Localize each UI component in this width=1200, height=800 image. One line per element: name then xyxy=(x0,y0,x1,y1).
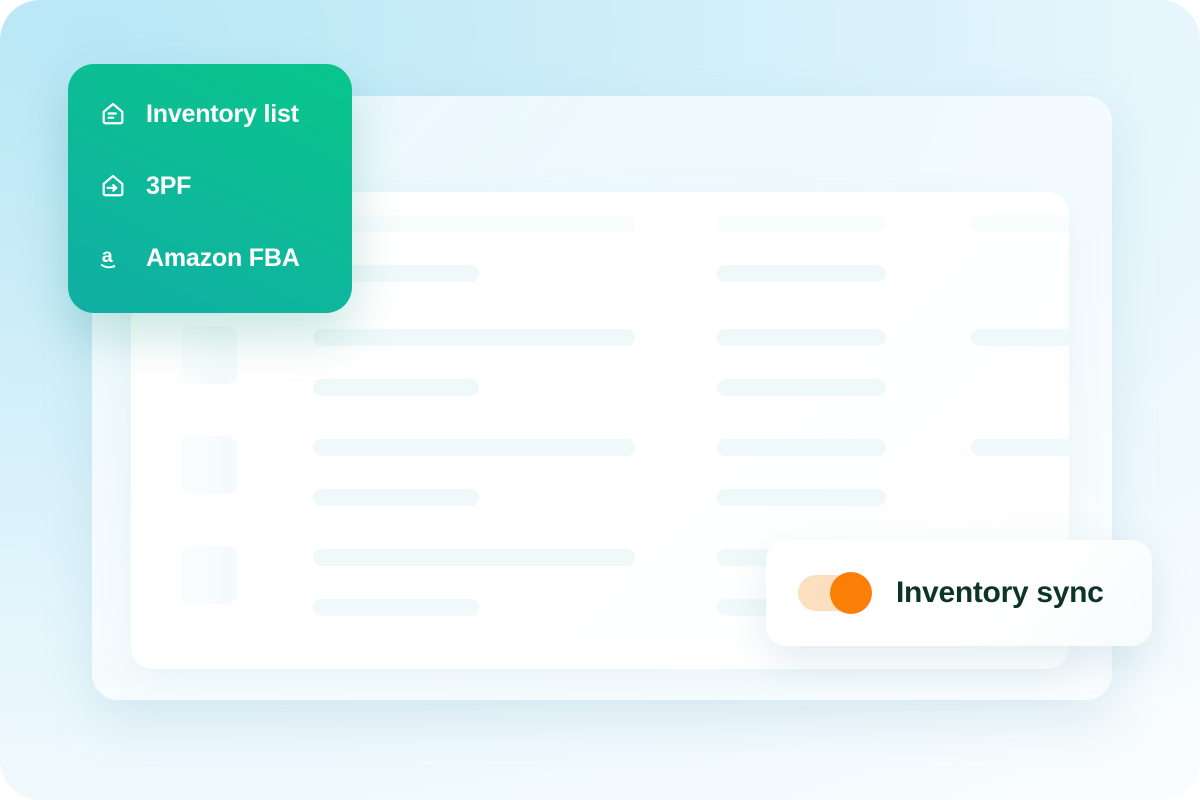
toggle-knob xyxy=(830,572,872,614)
svg-text:a: a xyxy=(102,245,114,267)
row-col2-top-placeholder xyxy=(717,439,886,456)
house-list-icon xyxy=(98,99,128,129)
inventory-sync-toggle[interactable] xyxy=(798,572,872,614)
nav-item-label: Amazon FBA xyxy=(146,244,300,273)
row-col2-top-placeholder xyxy=(717,329,886,346)
row-subtitle-placeholder xyxy=(313,489,479,506)
row-col2-bottom-placeholder xyxy=(717,265,886,282)
row-title-placeholder xyxy=(313,329,635,346)
row-col3-placeholder xyxy=(971,215,1069,232)
table-row xyxy=(131,412,1069,522)
row-thumbnail-placeholder xyxy=(181,436,237,494)
row-thumbnail-placeholder xyxy=(181,326,237,384)
amazon-logo-icon: a xyxy=(98,243,128,273)
table-row xyxy=(131,302,1069,412)
row-subtitle-placeholder xyxy=(313,599,479,616)
nav-item-label: 3PF xyxy=(146,172,191,201)
row-col3-placeholder xyxy=(971,439,1069,456)
nav-item-label: Inventory list xyxy=(146,100,299,129)
promo-illustration: Inventory list 3PF a Amazon FBA xyxy=(0,0,1200,800)
nav-item-inventory-list[interactable]: Inventory list xyxy=(68,90,352,138)
inventory-sync-card: Inventory sync xyxy=(766,540,1152,646)
row-col3-placeholder xyxy=(971,329,1069,346)
nav-item-amazon-fba[interactable]: a Amazon FBA xyxy=(68,234,352,282)
row-title-placeholder xyxy=(313,549,635,566)
row-col2-top-placeholder xyxy=(717,215,886,232)
house-arrow-right-icon xyxy=(98,171,128,201)
row-col2-bottom-placeholder xyxy=(717,379,886,396)
inventory-nav-card: Inventory list 3PF a Amazon FBA xyxy=(68,64,352,313)
row-thumbnail-placeholder xyxy=(181,546,237,604)
row-title-placeholder xyxy=(313,215,635,232)
row-col2-bottom-placeholder xyxy=(717,489,886,506)
inventory-sync-label: Inventory sync xyxy=(896,576,1104,610)
row-title-placeholder xyxy=(313,439,635,456)
row-subtitle-placeholder xyxy=(313,379,479,396)
nav-item-3pf[interactable]: 3PF xyxy=(68,162,352,210)
